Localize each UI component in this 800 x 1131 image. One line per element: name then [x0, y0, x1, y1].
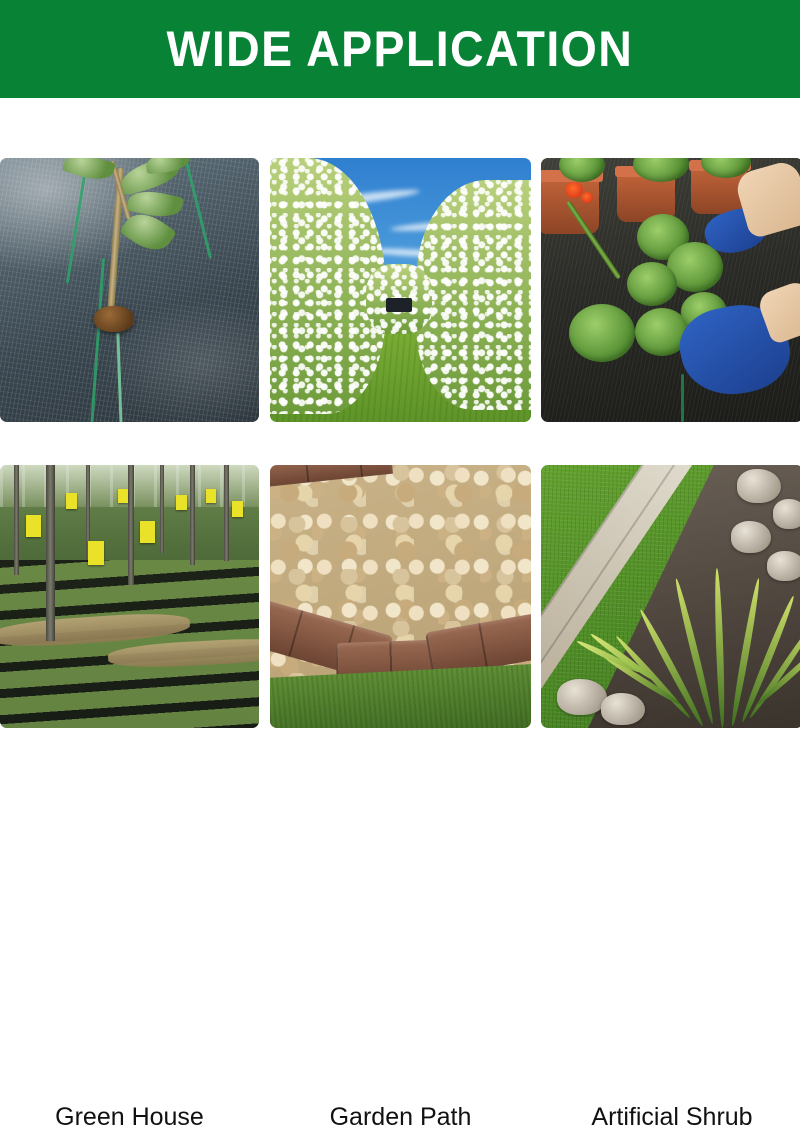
wide-application-page: WIDE APPLICATION Planting	[0, 0, 800, 800]
gallery-item-garden[interactable]: Garden	[541, 158, 800, 422]
artificial-shrub-photo	[541, 465, 800, 728]
decorative-rock	[557, 679, 607, 715]
red-flower	[581, 192, 593, 203]
geranium-leaf	[569, 304, 635, 362]
support-post	[128, 465, 134, 585]
support-post	[224, 465, 229, 561]
blossom-tree-row-right	[416, 180, 531, 410]
gallery-caption-green-house: Green House	[0, 1105, 259, 1130]
decorative-rock	[737, 469, 781, 503]
gallery-caption-garden-path: Garden Path	[270, 1105, 531, 1130]
decorative-rock	[601, 693, 645, 725]
gallery-item-green-house[interactable]: Green House	[0, 465, 259, 728]
header-banner: WIDE APPLICATION	[0, 0, 800, 98]
garden-path-photo	[270, 465, 531, 728]
geranium-leaf	[627, 262, 677, 306]
gallery-item-orchard[interactable]: Orchard	[270, 158, 531, 422]
green-house-photo	[0, 465, 259, 728]
support-post	[160, 465, 164, 553]
support-post	[190, 465, 195, 565]
decorative-rock	[773, 499, 800, 529]
yellow-sticky-trap	[232, 501, 243, 517]
application-gallery-grid: Planting Orchard	[0, 98, 800, 800]
garden-photo	[541, 158, 800, 422]
page-title: WIDE APPLICATION	[167, 24, 634, 74]
tractor	[386, 298, 412, 312]
support-post	[14, 465, 19, 575]
planting-photo	[0, 158, 259, 422]
yellow-sticky-trap	[118, 489, 128, 503]
orchard-photo	[270, 158, 531, 422]
yellow-sticky-trap	[66, 493, 77, 509]
yellow-sticky-trap	[140, 521, 155, 543]
gallery-item-garden-path[interactable]: Garden Path	[270, 465, 531, 728]
yellow-sticky-trap	[88, 541, 104, 565]
decorative-rock	[731, 521, 771, 553]
support-post	[46, 465, 55, 641]
yellow-sticky-trap	[176, 495, 187, 510]
decorative-rock	[767, 551, 800, 581]
gallery-item-artificial-shrub[interactable]: Artificial Shrub	[541, 465, 800, 728]
soil-plug	[94, 306, 134, 332]
fabric-green-thread	[681, 374, 684, 422]
gallery-item-planting[interactable]: Planting	[0, 158, 259, 422]
gallery-caption-artificial-shrub: Artificial Shrub	[541, 1105, 800, 1130]
yellow-sticky-trap	[26, 515, 41, 537]
yellow-sticky-trap	[206, 489, 216, 503]
